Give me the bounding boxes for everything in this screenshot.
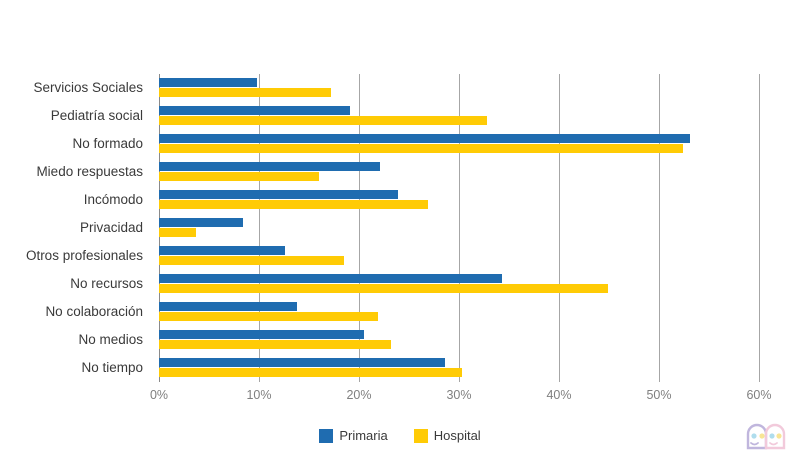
y-axis-label: Otros profesionales [26, 242, 143, 270]
bar-primaria [159, 134, 690, 143]
bar-primaria [159, 358, 445, 367]
bar-hospital [159, 256, 344, 265]
legend-item-hospital[interactable]: Hospital [414, 428, 481, 443]
plot-area [159, 74, 759, 382]
bar-primaria [159, 106, 350, 115]
bar-hospital [159, 368, 462, 377]
bar-hospital [159, 340, 391, 349]
bar-chart: Servicios SocialesPediatría socialNo for… [0, 0, 800, 460]
legend-label: Hospital [434, 428, 481, 443]
y-axis-label: Incómodo [84, 186, 143, 214]
bar-hospital [159, 312, 378, 321]
bar-hospital [159, 144, 683, 153]
gridline-60pct [759, 74, 760, 382]
bar-hospital [159, 116, 487, 125]
bar-primaria [159, 302, 297, 311]
legend-item-primaria[interactable]: Primaria [319, 428, 387, 443]
y-axis-label: No colaboración [45, 298, 143, 326]
bar-primaria [159, 190, 398, 199]
bar-row [159, 242, 759, 270]
bar-hospital [159, 284, 608, 293]
bar-row [159, 158, 759, 186]
x-axis-tick-label: 10% [246, 388, 271, 402]
y-axis-label: Pediatría social [51, 102, 143, 130]
bar-row [159, 354, 759, 382]
bar-row [159, 130, 759, 158]
bar-hospital [159, 88, 331, 97]
bar-primaria [159, 162, 380, 171]
legend-swatch-icon [319, 429, 333, 443]
bar-primaria [159, 78, 257, 87]
legend-label: Primaria [339, 428, 387, 443]
bar-row [159, 270, 759, 298]
y-axis-label: No tiempo [81, 354, 143, 382]
bar-row [159, 74, 759, 102]
bar-row [159, 214, 759, 242]
x-axis-tick-label: 0% [150, 388, 168, 402]
chart-legend: PrimariaHospital [0, 428, 800, 443]
x-axis-tick-label: 40% [546, 388, 571, 402]
bar-rows [159, 74, 759, 382]
bar-row [159, 298, 759, 326]
bar-primaria [159, 274, 502, 283]
y-axis-label: No medios [78, 326, 143, 354]
legend-swatch-icon [414, 429, 428, 443]
bar-hospital [159, 228, 196, 237]
x-axis-tick-label: 60% [746, 388, 771, 402]
bar-row [159, 326, 759, 354]
bar-primaria [159, 330, 364, 339]
x-axis-tick-label: 50% [646, 388, 671, 402]
x-axis-tick-label: 30% [446, 388, 471, 402]
bar-hospital [159, 200, 428, 209]
logo-watermark-icon [742, 414, 790, 454]
y-axis-label: No formado [72, 130, 143, 158]
y-axis-label: Privacidad [80, 214, 143, 242]
y-axis-label: No recursos [70, 270, 143, 298]
x-axis-labels: 0%10%20%30%40%50%60% [0, 388, 800, 410]
y-axis-labels: Servicios SocialesPediatría socialNo for… [0, 74, 151, 382]
bar-row [159, 186, 759, 214]
bar-row [159, 102, 759, 130]
bar-primaria [159, 246, 285, 255]
y-axis-label: Miedo respuestas [36, 158, 143, 186]
y-axis-label: Servicios Sociales [33, 74, 143, 102]
bar-hospital [159, 172, 319, 181]
x-axis-tick-label: 20% [346, 388, 371, 402]
bar-primaria [159, 218, 243, 227]
